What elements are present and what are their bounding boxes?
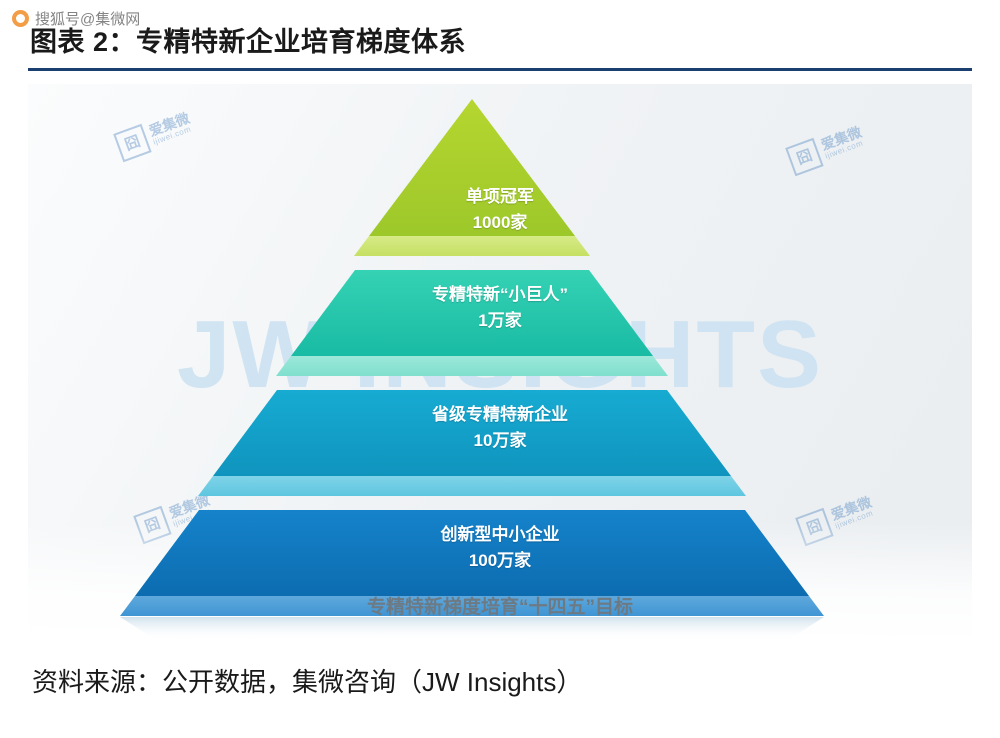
page-title: 图表 2：专精特新企业培育梯度体系 [30,20,970,59]
pyramid-tier-3-face [198,476,746,496]
sohu-watermark: 搜狐号@集微网 [12,8,140,29]
pyramid-diagram: 单项冠军 1000家 专精特新“小巨人” 1万家 省级专精特新企业 10万家 创… [28,84,972,642]
pyramid-tier-2-body [291,270,653,356]
pyramid-tier-3-body [213,390,731,476]
title-divider [28,68,972,71]
source-note: 资料来源：公开数据，集微咨询（JW Insights） [32,662,582,699]
sohu-watermark-label: 搜狐号@集微网 [35,8,140,29]
pyramid-tier-4-body [135,510,809,596]
pyramid-tier-2-face [276,356,668,376]
pyramid-tier-1-face [354,236,590,256]
sohu-logo-icon [12,10,29,27]
figure-container: JW INSIGHTS 囧 爱集微 ijiwei.com 囧 爱集微 ijiwe… [28,84,972,642]
pyramid-reflection [120,617,824,640]
pyramid-tier-1-body [369,99,575,236]
pyramid-svg [28,84,972,642]
pyramid-base-caption: 专精特新梯度培育“十四五”目标 [28,592,972,619]
